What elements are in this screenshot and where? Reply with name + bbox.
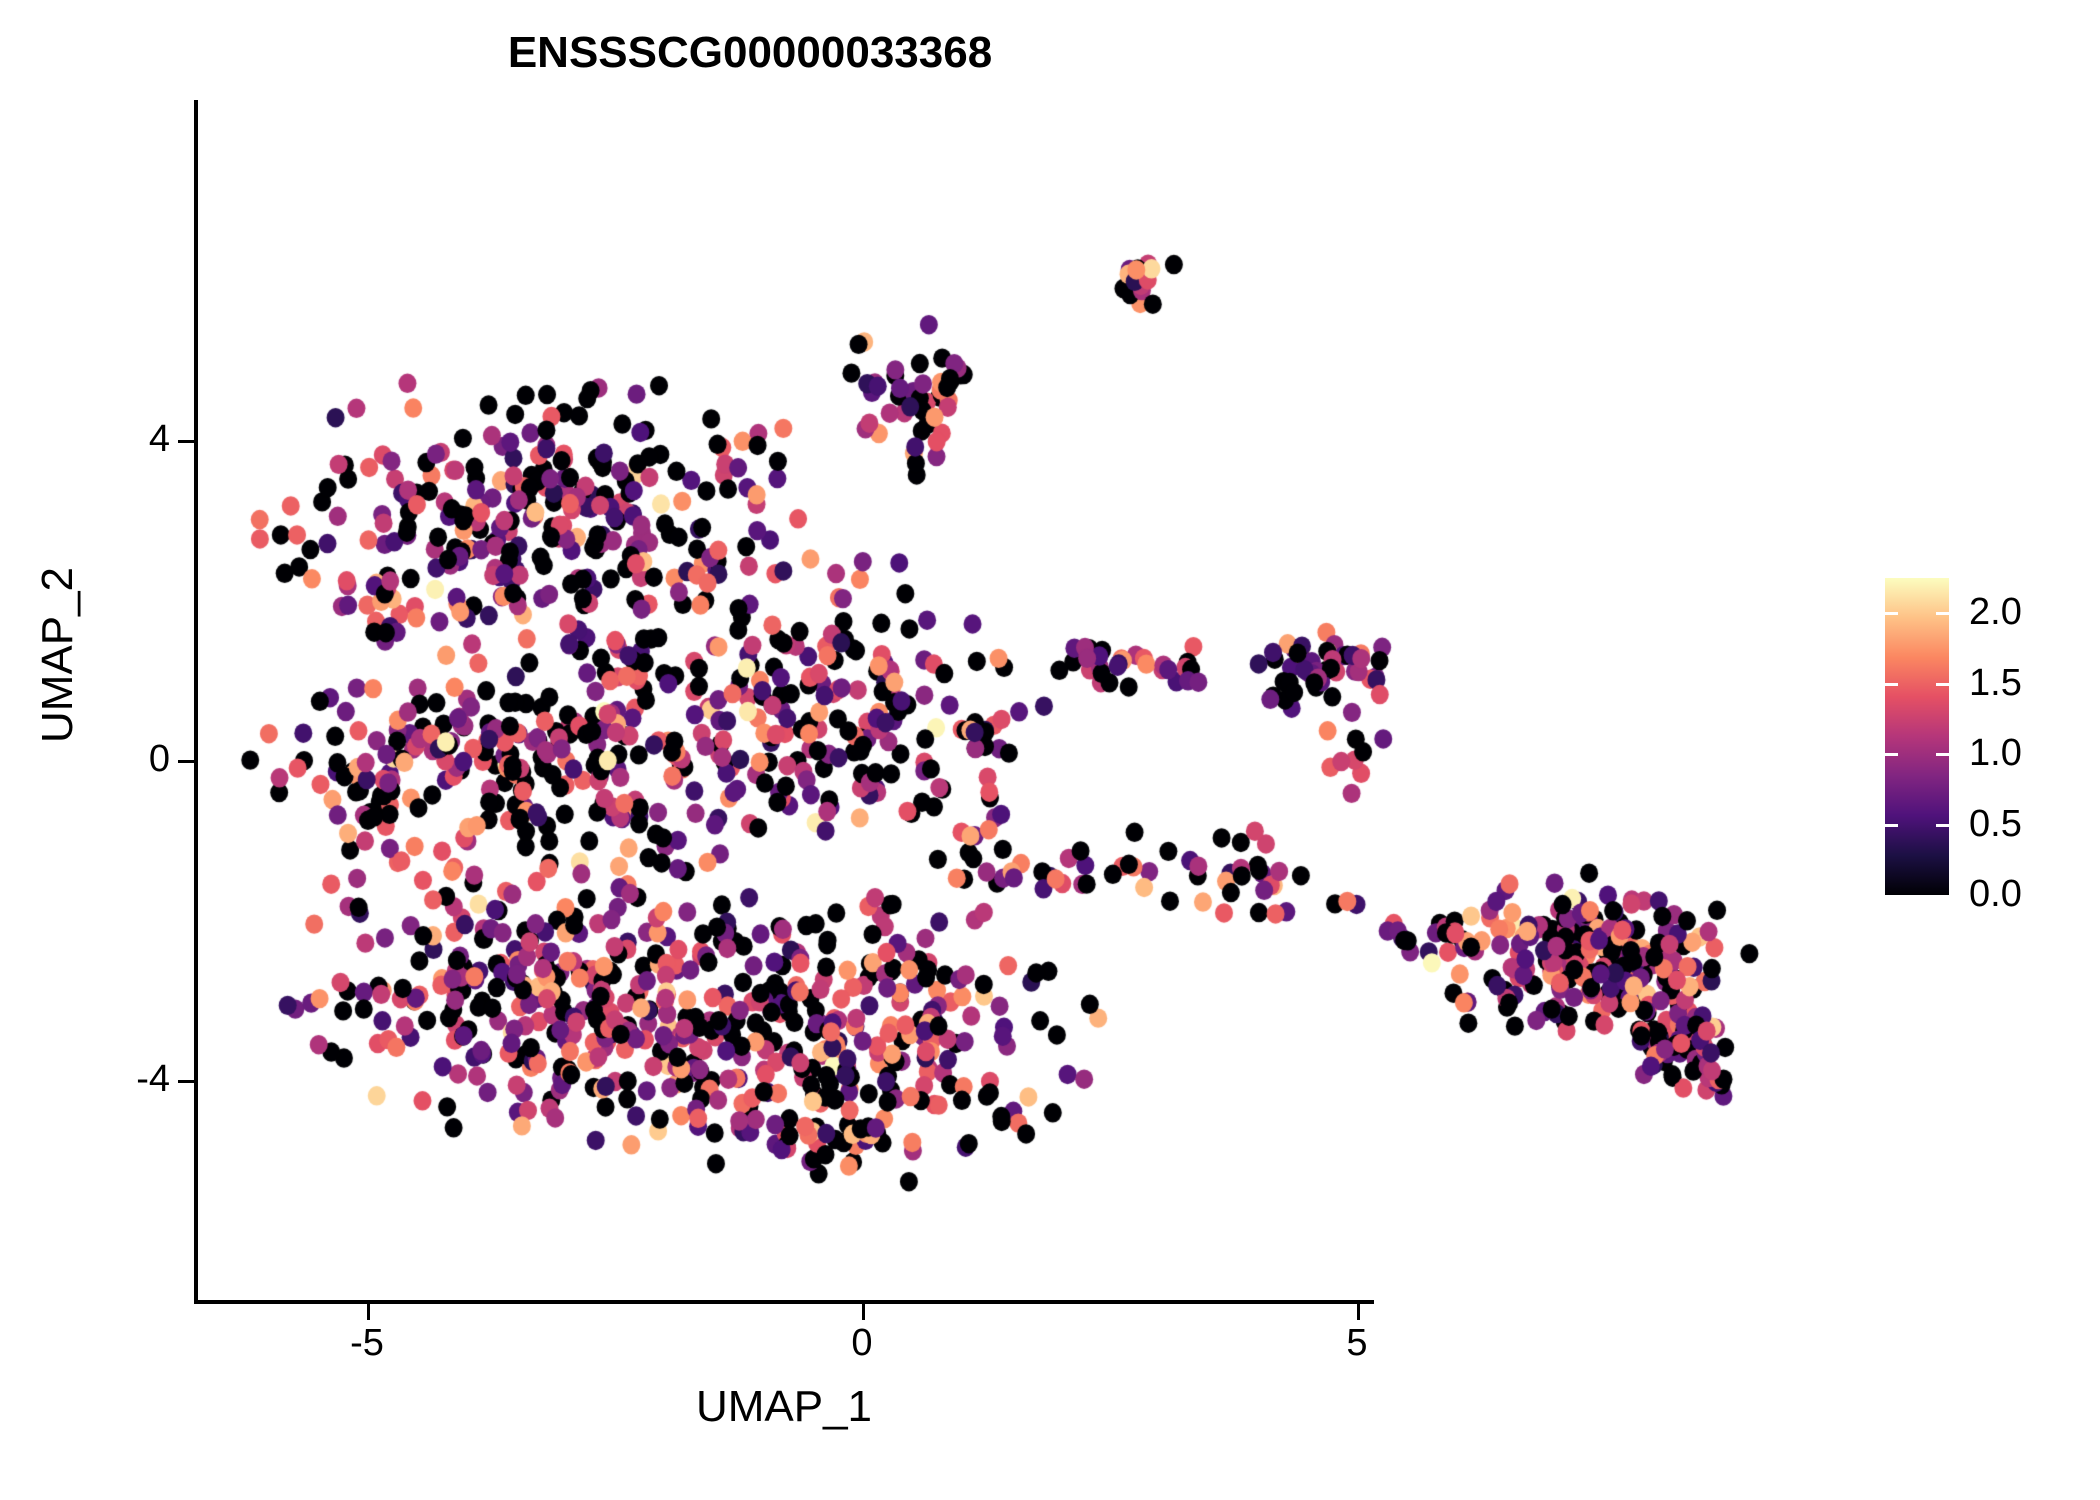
colorbar-tick-label-1-0: 1.0 <box>1969 732 2022 775</box>
colorbar-gradient <box>1885 578 1949 895</box>
colorbar-tick-mark <box>1885 753 1898 756</box>
colorbar-tick-label-0-0: 0.0 <box>1969 873 2022 916</box>
colorbar-tick-mark <box>1885 612 1898 615</box>
scatter-points-canvas <box>0 0 2100 1500</box>
colorbar-tick-mark <box>1936 683 1949 686</box>
colorbar-tick-mark <box>1936 612 1949 615</box>
colorbar-tick-mark <box>1936 824 1949 827</box>
colorbar-tick-label-1-5: 1.5 <box>1969 662 2022 705</box>
colorbar-tick-label-2-0: 2.0 <box>1969 591 2022 634</box>
colorbar-tick-mark <box>1885 683 1898 686</box>
colorbar-tick-mark <box>1885 824 1898 827</box>
colorbar-tick-mark <box>1936 753 1949 756</box>
figure-root: ENSSSCG00000033368 4 0 -4 -5 0 5 UMAP_2 … <box>0 0 2100 1500</box>
colorbar-legend: 2.01.51.00.50.0 <box>1885 578 1949 895</box>
colorbar-tick-label-0-5: 0.5 <box>1969 803 2022 846</box>
